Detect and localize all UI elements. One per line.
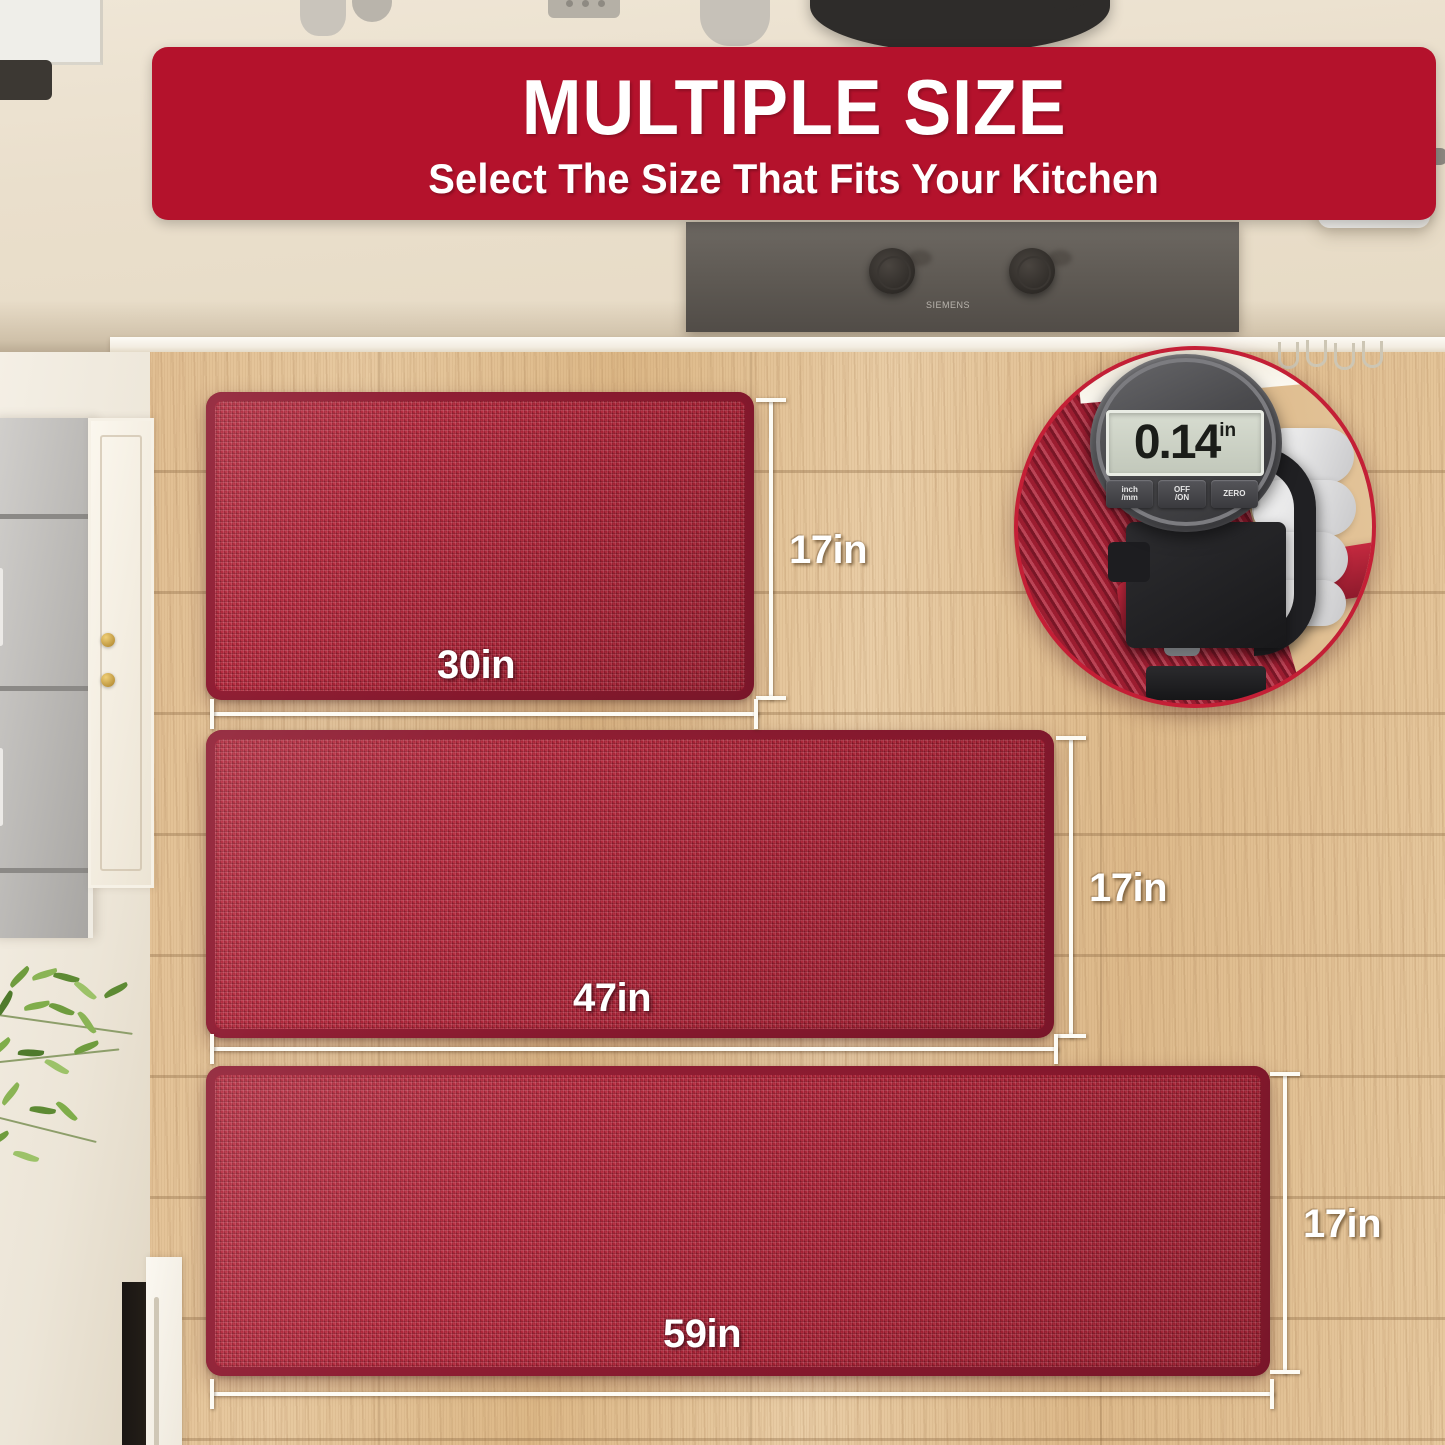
mat-30in-height-label: 17in: [789, 528, 867, 573]
utensil-scoop-icon: [300, 0, 346, 36]
white-cabinet-door: [88, 418, 154, 888]
gauge-button-zero[interactable]: ZERO: [1211, 480, 1258, 508]
cooktop-burner-left-icon: [869, 248, 915, 294]
product-infographic: SIEMENS: [0, 0, 1445, 1445]
dimension-line-vertical-59: [1283, 1072, 1287, 1374]
thickness-unit: in: [1219, 421, 1236, 440]
gas-cooktop: [686, 222, 1239, 332]
left-cabinetry-wall: [0, 352, 150, 1445]
dimension-line-vertical-47: [1069, 736, 1073, 1038]
banner-subtitle: Select The Size That Fits Your Kitchen: [429, 158, 1160, 200]
header-banner: MULTIPLE SIZE Select The Size That Fits …: [152, 47, 1436, 220]
dimension-line-vertical-30: [769, 398, 773, 700]
door-handle-icon: [154, 1297, 159, 1445]
dimension-line-horizontal-47: [210, 1047, 1058, 1051]
cooktop-brand-label: SIEMENS: [920, 300, 976, 311]
thickness-callout-circle: 0.14 in inch /mm OFF /ON ZERO: [1014, 346, 1376, 708]
stainless-steel-drawers: [0, 418, 93, 938]
cooktop-burner-right-icon: [1009, 248, 1055, 294]
white-door-panel: [146, 1257, 182, 1445]
mat-59in-height-label: 17in: [1303, 1202, 1381, 1247]
cabinet-knob-icon: [101, 633, 115, 647]
gauge-button-inch-mm[interactable]: inch /mm: [1106, 480, 1153, 508]
gauge-button-row: inch /mm OFF /ON ZERO: [1106, 480, 1258, 508]
gauge-anvil: [1146, 666, 1266, 700]
bamboo-plant: [0, 952, 170, 1212]
banner-title: MULTIPLE SIZE: [522, 68, 1067, 146]
dimension-line-horizontal-30: [210, 712, 758, 716]
gauge-button-line2: /mm: [1121, 494, 1137, 502]
gauge-button-line1: ZERO: [1223, 490, 1245, 498]
mat-47in-width-label: 47in: [573, 976, 651, 1021]
gauge-button-line2: /ON: [1175, 494, 1189, 502]
grater-icon: [548, 0, 620, 18]
gauge-lcd-display: 0.14 in: [1106, 410, 1264, 476]
mat-47in-height-label: 17in: [1089, 866, 1167, 911]
gauge-button-off-on[interactable]: OFF /ON: [1158, 480, 1205, 508]
cabinet-knob-icon: [101, 673, 115, 687]
top-left-appliance: [0, 0, 103, 65]
gauge-lower-body: [1126, 522, 1286, 648]
thickness-value: 0.14: [1134, 419, 1219, 467]
mat-30in-width-label: 30in: [437, 643, 515, 688]
top-left-dark-appliance: [0, 60, 52, 100]
dimension-line-horizontal-59: [210, 1392, 1274, 1396]
mat-59in-width-label: 59in: [663, 1312, 741, 1357]
